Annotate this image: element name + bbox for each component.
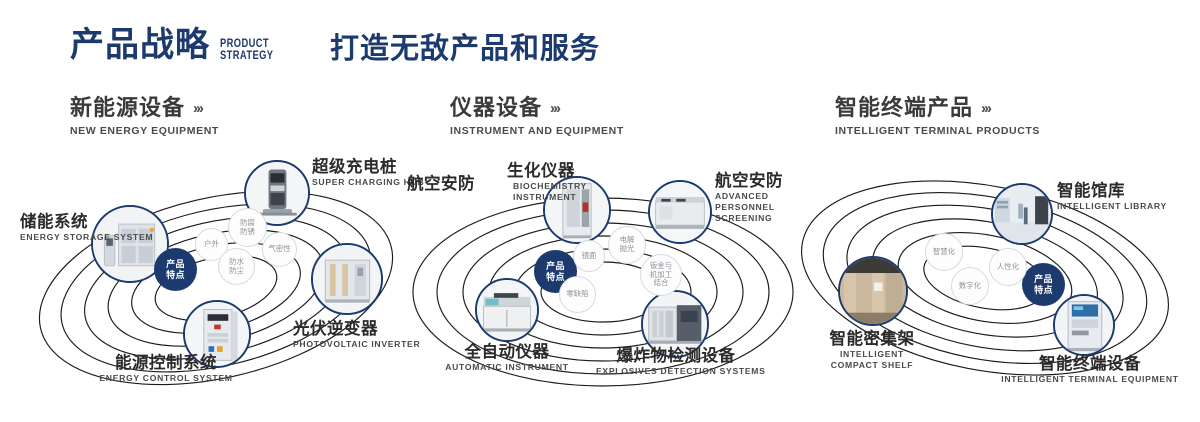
- label-en: EXPLOSIVES DETECTION SYSTEMS: [596, 366, 756, 377]
- chevron-right-icon: ›››: [193, 101, 202, 116]
- label-cn: 航空安防: [403, 175, 475, 194]
- label-intelligent-terminal-equipment: 智能终端设备 INTELLIGENT TERMINAL EQUIPMENT: [1000, 355, 1180, 385]
- label-intelligent-library: 智能馆库 INTELLIGENT LIBRARY: [1057, 182, 1167, 212]
- label-explosives-detection-systems: 爆炸物检测设备 EXPLOSIVES DETECTION SYSTEMS: [596, 347, 756, 377]
- center-bubble-product-features: 产品 特点: [1022, 263, 1065, 306]
- chevron-right-icon: ›››: [981, 101, 990, 116]
- pv-inverter-cabinet-icon: [313, 245, 381, 313]
- label-cn: 光伏逆变器: [293, 320, 420, 339]
- node-advanced-personnel-screening[interactable]: [648, 180, 712, 244]
- feature-bubble-electropolishing: 电解抛光: [608, 226, 646, 264]
- screening-machine-icon: [650, 182, 710, 242]
- center-bubble-product-features: 产品 特点: [154, 248, 197, 291]
- label-en: INTELLIGENT COMPACT SHELF: [820, 349, 925, 371]
- feature-bubble-digital: 数字化: [951, 267, 989, 305]
- page-subtitle: 打造无敌产品和服务: [330, 31, 600, 67]
- label-intelligent-compact-shelf: 智能密集架 INTELLIGENT COMPACT SHELF: [787, 330, 957, 371]
- compact-shelf-icon: [840, 258, 906, 324]
- section-heading-cn: 智能终端产品 ›››: [835, 95, 1040, 121]
- product-strategy-infographic: 产品战略 PRODUCT STRATEGY 打造无敌产品和服务 新能源设备 ››…: [0, 0, 1200, 422]
- center-bubble-text: 产品 特点: [1034, 274, 1053, 295]
- section-heading-intelligent-terminal: 智能终端产品 ››› INTELLIGENT TERMINAL PRODUCTS: [835, 95, 1040, 137]
- label-en: BIOCHEMISTRY INSTRUMENT: [513, 181, 575, 203]
- section-heading-cn: 新能源设备 ›››: [70, 95, 219, 121]
- label-energy-control-system: 能源控制系统 ENERGY CONTROL SYSTEM: [86, 354, 246, 384]
- label-en: ENERGY STORAGE SYSTEM: [20, 232, 88, 243]
- node-intelligent-library[interactable]: [991, 183, 1053, 245]
- label-en: INTELLIGENT LIBRARY: [1057, 201, 1167, 212]
- label-en: AUTOMATIC INSTRUMENT: [427, 362, 587, 373]
- center-bubble-text: 产品 特点: [546, 261, 565, 282]
- label-cn: 智能密集架: [787, 330, 957, 349]
- page-title: 产品战略: [70, 26, 210, 64]
- label-cn: 航空安防: [715, 172, 803, 191]
- chevron-right-icon: ›››: [550, 101, 559, 116]
- label-cn: 能源控制系统: [86, 354, 246, 373]
- smart-library-icon: [993, 185, 1051, 243]
- label-cn: 爆炸物检测设备: [596, 347, 756, 366]
- label-advanced-personnel-screening: 航空安防 ADVANCED PERSONNEL SCREENING: [715, 172, 803, 224]
- node-photovoltaic-inverter[interactable]: [311, 243, 383, 315]
- label-photovoltaic-inverter: 光伏逆变器 PHOTOVOLTAIC INVERTER: [293, 320, 420, 350]
- label-cn: 智能馆库: [1057, 182, 1167, 201]
- section-heading-instrument: 仪器设备 ››› INSTRUMENT AND EQUIPMENT: [450, 95, 624, 137]
- cluster-intelligent-terminal-products: 智能馆库 INTELLIGENT LIBRARY 智能密集架 INTELLIGE…: [795, 150, 1195, 420]
- feature-bubble-intelligent: 智慧化: [925, 233, 963, 271]
- feature-bubble-mirror-finish: 镜面: [573, 240, 605, 272]
- section-heading-en: INTELLIGENT TERMINAL PRODUCTS: [835, 125, 1040, 137]
- cluster-new-energy-equipment: 储能系统 ENERGY STORAGE SYSTEM 超级充电桩 SUPER C…: [20, 150, 420, 420]
- feature-bubble-anticorrosion: 防腐防锈: [228, 208, 267, 247]
- node-automatic-instrument[interactable]: [475, 278, 539, 342]
- feature-bubble-waterproof: 防水防尘: [218, 248, 255, 285]
- label-en: INTELLIGENT TERMINAL EQUIPMENT: [1000, 374, 1180, 385]
- feature-bubble-zero-defect: 零缺陷: [559, 276, 596, 313]
- section-heading-cn: 仪器设备 ›››: [450, 95, 624, 121]
- label-automatic-instrument: 全自动仪器 AUTOMATIC INSTRUMENT: [427, 343, 587, 373]
- label-en: PHOTOVOLTAIC INVERTER: [293, 339, 420, 350]
- center-bubble-text: 产品 特点: [166, 259, 185, 280]
- label-cn: 智能终端设备: [1000, 355, 1180, 374]
- section-heading-label: 新能源设备: [70, 95, 185, 121]
- cluster-instrument-and-equipment: 生化仪器 BIOCHEMISTRY INSTRUMENT 航空安防 航空安防 A…: [403, 150, 803, 420]
- section-heading-label: 智能终端产品: [835, 95, 973, 121]
- feature-bubble-sheetmetal-machining: 钣金与机加工结合: [640, 254, 682, 296]
- label-en: ADVANCED PERSONNEL SCREENING: [715, 191, 803, 224]
- label-aviation-security-left: 航空安防: [403, 175, 475, 194]
- label-en: ENERGY CONTROL SYSTEM: [86, 373, 246, 384]
- section-heading-en: NEW ENERGY EQUIPMENT: [70, 125, 219, 137]
- label-cn: 全自动仪器: [427, 343, 587, 362]
- node-intelligent-terminal-equipment[interactable]: [1053, 294, 1115, 356]
- section-heading-label: 仪器设备: [450, 95, 542, 121]
- page-title-english: PRODUCT STRATEGY: [220, 37, 273, 61]
- automatic-instrument-icon: [477, 280, 537, 340]
- feature-bubble-humanized: 人性化: [989, 248, 1027, 286]
- feature-bubble-airtight: 气密性: [262, 232, 297, 267]
- section-heading-new-energy: 新能源设备 ››› NEW ENERGY EQUIPMENT: [70, 95, 219, 137]
- smart-kiosk-icon: [1055, 296, 1113, 354]
- label-cn: 储能系统: [20, 213, 88, 232]
- page-title-block: 产品战略 PRODUCT STRATEGY: [70, 26, 288, 64]
- page-title-english-line2: STRATEGY: [220, 49, 273, 61]
- section-heading-en: INSTRUMENT AND EQUIPMENT: [450, 125, 624, 137]
- node-intelligent-compact-shelf[interactable]: [838, 256, 908, 326]
- label-energy-storage-system: 储能系统 ENERGY STORAGE SYSTEM: [20, 213, 88, 243]
